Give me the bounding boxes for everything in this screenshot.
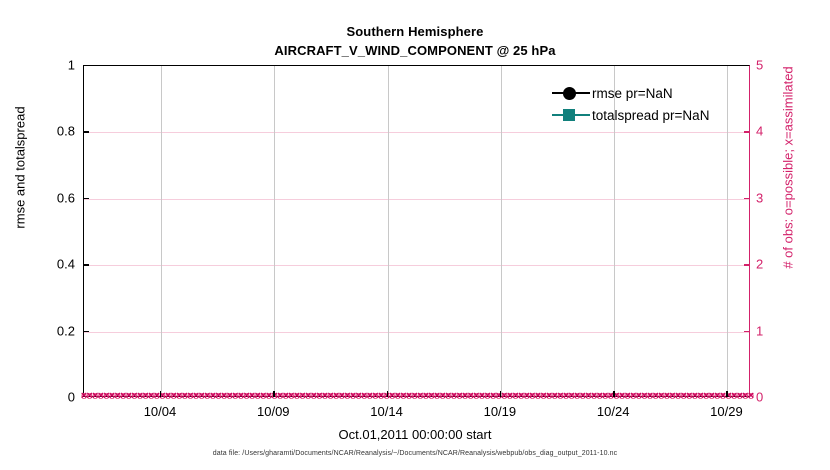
y-tick-label-right: 0 (756, 390, 792, 405)
obs-possible-marker: o (550, 392, 559, 401)
obs-assimilated-marker: × (208, 392, 217, 401)
obs-assimilated-marker: × (511, 392, 520, 401)
y-tick-label-left: 1 (5, 58, 75, 73)
obs-possible-marker: o (562, 392, 571, 401)
y-tick-label-left: 0.8 (5, 124, 75, 139)
legend-item-totalspread: totalspread pr=NaN (550, 104, 750, 126)
obs-possible-marker: o (702, 392, 711, 401)
obs-possible-marker: o (85, 392, 94, 401)
obs-assimilated-marker: × (724, 392, 733, 401)
obs-possible-marker: o (388, 392, 397, 401)
obs-assimilated-marker: × (494, 392, 503, 401)
obs-assimilated-marker: × (203, 392, 212, 401)
obs-possible-marker: o (276, 392, 285, 401)
obs-assimilated-marker: × (225, 392, 234, 401)
obs-assimilated-marker: × (505, 392, 514, 401)
obs-assimilated-marker: × (433, 392, 442, 401)
y-tick-mark-right (744, 331, 750, 332)
obs-assimilated-marker: × (690, 392, 699, 401)
obs-assimilated-marker: × (304, 392, 313, 401)
y-tick-mark-right (744, 198, 750, 199)
obs-assimilated-marker: × (287, 392, 296, 401)
obs-possible-marker: o (124, 392, 133, 401)
obs-assimilated-marker: × (169, 392, 178, 401)
x-tick-mark (613, 391, 614, 397)
obs-assimilated-marker: × (455, 392, 464, 401)
gridline-horizontal (84, 332, 749, 333)
obs-possible-marker: o (393, 392, 402, 401)
obs-possible-marker: o (651, 392, 660, 401)
obs-assimilated-marker: × (528, 392, 537, 401)
obs-possible-marker: o (399, 392, 408, 401)
obs-assimilated-marker: × (427, 392, 436, 401)
obs-assimilated-marker: × (96, 392, 105, 401)
obs-assimilated-marker: × (444, 392, 453, 401)
obs-assimilated-marker: × (646, 392, 655, 401)
obs-possible-marker: o (483, 392, 492, 401)
obs-possible-marker: o (629, 392, 638, 401)
obs-possible-marker: o (354, 392, 363, 401)
obs-possible-marker: o (534, 392, 543, 401)
y-tick-mark-right (744, 264, 750, 265)
obs-possible-marker: o (567, 392, 576, 401)
obs-possible-marker: o (236, 392, 245, 401)
obs-possible-marker: o (741, 392, 750, 401)
obs-possible-marker: o (416, 392, 425, 401)
obs-assimilated-marker: × (236, 392, 245, 401)
obs-assimilated-marker: × (264, 392, 273, 401)
obs-possible-marker: o (304, 392, 313, 401)
obs-assimilated-marker: × (421, 392, 430, 401)
obs-possible-marker: o (248, 392, 257, 401)
obs-assimilated-marker: × (668, 392, 677, 401)
obs-possible-marker: o (136, 392, 145, 401)
obs-assimilated-marker: × (472, 392, 481, 401)
obs-assimilated-marker: × (534, 392, 543, 401)
obs-assimilated-marker: × (618, 392, 627, 401)
obs-possible-marker: o (315, 392, 324, 401)
obs-assimilated-marker: × (141, 392, 150, 401)
obs-assimilated-marker: × (657, 392, 666, 401)
gridline-vertical (501, 66, 502, 396)
obs-assimilated-marker: × (578, 392, 587, 401)
obs-possible-marker: o (360, 392, 369, 401)
obs-assimilated-marker: × (483, 392, 492, 401)
obs-assimilated-marker: × (584, 392, 593, 401)
obs-assimilated-marker: × (102, 392, 111, 401)
obs-possible-marker: o (102, 392, 111, 401)
x-tick-mark (387, 391, 388, 397)
page-title: Southern Hemisphere (0, 22, 830, 41)
obs-assimilated-marker: × (550, 392, 559, 401)
obs-possible-marker: o (640, 392, 649, 401)
obs-possible-marker: o (427, 392, 436, 401)
y-tick-label-right: 3 (756, 190, 792, 205)
obs-possible-marker: o (657, 392, 666, 401)
obs-assimilated-marker: × (679, 392, 688, 401)
legend-marker-circle-icon (550, 83, 592, 103)
obs-assimilated-marker: × (220, 392, 229, 401)
y-tick-label-left: 0.2 (5, 323, 75, 338)
x-tick-label: 10/14 (342, 404, 432, 419)
y-tick-mark-left (83, 198, 89, 199)
obs-possible-marker: o (461, 392, 470, 401)
obs-possible-marker: o (674, 392, 683, 401)
x-tick-label: 10/19 (455, 404, 545, 419)
y-tick-label-left: 0.6 (5, 190, 75, 205)
obs-possible-marker: o (696, 392, 705, 401)
y-tick-mark-right (744, 131, 750, 132)
obs-possible-marker: o (634, 392, 643, 401)
obs-possible-marker: o (590, 392, 599, 401)
obs-possible-marker: o (186, 392, 195, 401)
obs-assimilated-marker: × (337, 392, 346, 401)
obs-possible-marker: o (601, 392, 610, 401)
x-tick-mark (160, 391, 161, 397)
obs-possible-marker: o (192, 392, 201, 401)
obs-assimilated-marker: × (573, 392, 582, 401)
obs-assimilated-marker: × (477, 392, 486, 401)
obs-possible-marker: o (225, 392, 234, 401)
chart-subtitle: AIRCRAFT_V_WIND_COMPONENT @ 25 hPa (0, 41, 830, 60)
obs-assimilated-marker: × (343, 392, 352, 401)
x-tick-label: 10/04 (115, 404, 205, 419)
obs-possible-marker: o (292, 392, 301, 401)
obs-possible-marker: o (444, 392, 453, 401)
obs-possible-marker: o (528, 392, 537, 401)
obs-assimilated-marker: × (410, 392, 419, 401)
obs-assimilated-marker: × (259, 392, 268, 401)
y-tick-mark-left (83, 264, 89, 265)
obs-assimilated-marker: × (180, 392, 189, 401)
obs-possible-marker: o (287, 392, 296, 401)
obs-possible-marker: o (175, 392, 184, 401)
obs-assimilated-marker: × (281, 392, 290, 401)
obs-assimilated-marker: × (713, 392, 722, 401)
obs-assimilated-marker: × (730, 392, 739, 401)
obs-possible-marker: o (690, 392, 699, 401)
obs-assimilated-marker: × (349, 392, 358, 401)
obs-assimilated-marker: × (707, 392, 716, 401)
obs-possible-marker: o (449, 392, 458, 401)
obs-assimilated-marker: × (377, 392, 386, 401)
obs-assimilated-marker: × (735, 392, 744, 401)
obs-possible-marker: o (735, 392, 744, 401)
obs-assimilated-marker: × (332, 392, 341, 401)
obs-assimilated-marker: × (321, 392, 330, 401)
obs-assimilated-marker: × (371, 392, 380, 401)
obs-possible-marker: o (618, 392, 627, 401)
obs-possible-marker: o (298, 392, 307, 401)
y-tick-label-left: 0 (5, 390, 75, 405)
obs-possible-marker: o (203, 392, 212, 401)
obs-possible-marker: o (573, 392, 582, 401)
obs-assimilated-marker: × (461, 392, 470, 401)
obs-possible-marker: o (349, 392, 358, 401)
obs-assimilated-marker: × (298, 392, 307, 401)
obs-possible-marker: o (517, 392, 526, 401)
obs-assimilated-marker: × (113, 392, 122, 401)
x-tick-label: 10/29 (681, 404, 771, 419)
obs-possible-marker: o (365, 392, 374, 401)
obs-assimilated-marker: × (326, 392, 335, 401)
obs-possible-marker: o (337, 392, 346, 401)
obs-assimilated-marker: × (562, 392, 571, 401)
obs-possible-marker: o (505, 392, 514, 401)
legend-label-rmse: rmse pr=NaN (592, 86, 673, 101)
obs-assimilated-marker: × (197, 392, 206, 401)
gridline-vertical (274, 66, 275, 396)
obs-possible-marker: o (141, 392, 150, 401)
obs-possible-marker: o (231, 392, 240, 401)
obs-possible-marker: o (108, 392, 117, 401)
obs-assimilated-marker: × (634, 392, 643, 401)
obs-assimilated-marker: × (309, 392, 318, 401)
obs-possible-marker: o (253, 392, 262, 401)
obs-possible-marker: o (96, 392, 105, 401)
gridline-horizontal (84, 132, 749, 133)
obs-possible-marker: o (332, 392, 341, 401)
obs-possible-marker: o (433, 392, 442, 401)
gridline-vertical (388, 66, 389, 396)
obs-possible-marker: o (713, 392, 722, 401)
x-axis-label: Oct.01,2011 00:00:00 start (0, 427, 830, 442)
obs-assimilated-marker: × (393, 392, 402, 401)
obs-possible-marker: o (259, 392, 268, 401)
obs-assimilated-marker: × (449, 392, 458, 401)
obs-assimilated-marker: × (522, 392, 531, 401)
obs-assimilated-marker: × (164, 392, 173, 401)
obs-assimilated-marker: × (192, 392, 201, 401)
obs-possible-marker: o (494, 392, 503, 401)
obs-possible-marker: o (679, 392, 688, 401)
obs-possible-marker: o (438, 392, 447, 401)
chart-title-block: Southern Hemisphere AIRCRAFT_V_WIND_COMP… (0, 22, 830, 60)
obs-possible-marker: o (646, 392, 655, 401)
obs-assimilated-marker: × (388, 392, 397, 401)
obs-possible-marker: o (164, 392, 173, 401)
obs-assimilated-marker: × (517, 392, 526, 401)
obs-possible-marker: o (371, 392, 380, 401)
obs-assimilated-marker: × (674, 392, 683, 401)
obs-possible-marker: o (214, 392, 223, 401)
obs-assimilated-marker: × (147, 392, 156, 401)
obs-assimilated-marker: × (276, 392, 285, 401)
obs-possible-marker: o (180, 392, 189, 401)
obs-assimilated-marker: × (489, 392, 498, 401)
obs-assimilated-marker: × (253, 392, 262, 401)
obs-assimilated-marker: × (124, 392, 133, 401)
obs-possible-marker: o (281, 392, 290, 401)
obs-assimilated-marker: × (80, 392, 89, 401)
legend-label-totalspread: totalspread pr=NaN (592, 108, 709, 123)
obs-assimilated-marker: × (741, 392, 750, 401)
obs-assimilated-marker: × (601, 392, 610, 401)
obs-possible-marker: o (343, 392, 352, 401)
obs-assimilated-marker: × (136, 392, 145, 401)
obs-possible-marker: o (584, 392, 593, 401)
obs-possible-marker: o (169, 392, 178, 401)
x-tick-mark (726, 391, 727, 397)
obs-assimilated-marker: × (292, 392, 301, 401)
obs-possible-marker: o (539, 392, 548, 401)
obs-possible-marker: o (321, 392, 330, 401)
obs-assimilated-marker: × (651, 392, 660, 401)
obs-assimilated-marker: × (175, 392, 184, 401)
obs-possible-marker: o (242, 392, 251, 401)
obs-possible-marker: o (489, 392, 498, 401)
obs-possible-marker: o (113, 392, 122, 401)
obs-possible-marker: o (326, 392, 335, 401)
obs-possible-marker: o (730, 392, 739, 401)
obs-possible-marker: o (309, 392, 318, 401)
obs-possible-marker: o (147, 392, 156, 401)
obs-possible-marker: o (511, 392, 520, 401)
y-tick-mark-left (83, 131, 89, 132)
obs-assimilated-marker: × (360, 392, 369, 401)
obs-assimilated-marker: × (466, 392, 475, 401)
obs-assimilated-marker: × (629, 392, 638, 401)
obs-assimilated-marker: × (231, 392, 240, 401)
obs-assimilated-marker: × (590, 392, 599, 401)
obs-assimilated-marker: × (405, 392, 414, 401)
x-tick-label: 10/24 (568, 404, 658, 419)
chart-legend: rmse pr=NaN totalspread pr=NaN (550, 82, 750, 126)
obs-assimilated-marker: × (108, 392, 117, 401)
obs-assimilated-marker: × (91, 392, 100, 401)
gridline-horizontal (84, 265, 749, 266)
obs-possible-marker: o (472, 392, 481, 401)
gridline-horizontal (84, 199, 749, 200)
obs-assimilated-marker: × (214, 392, 223, 401)
obs-assimilated-marker: × (556, 392, 565, 401)
obs-possible-marker: o (264, 392, 273, 401)
obs-possible-marker: o (410, 392, 419, 401)
y-tick-label-left: 0.4 (5, 257, 75, 272)
obs-assimilated-marker: × (416, 392, 425, 401)
gridline-vertical (161, 66, 162, 396)
obs-assimilated-marker: × (696, 392, 705, 401)
obs-possible-marker: o (91, 392, 100, 401)
obs-possible-marker: o (707, 392, 716, 401)
obs-assimilated-marker: × (640, 392, 649, 401)
x-tick-mark (500, 391, 501, 397)
obs-assimilated-marker: × (545, 392, 554, 401)
obs-possible-marker: o (197, 392, 206, 401)
y-tick-label-right: 2 (756, 257, 792, 272)
legend-marker-square-icon (550, 105, 592, 125)
obs-assimilated-marker: × (702, 392, 711, 401)
obs-possible-marker: o (578, 392, 587, 401)
obs-possible-marker: o (119, 392, 128, 401)
obs-possible-marker: o (556, 392, 565, 401)
obs-assimilated-marker: × (623, 392, 632, 401)
obs-possible-marker: o (377, 392, 386, 401)
obs-possible-marker: o (685, 392, 694, 401)
obs-possible-marker: o (220, 392, 229, 401)
obs-assimilated-marker: × (567, 392, 576, 401)
obs-possible-marker: o (668, 392, 677, 401)
obs-assimilated-marker: × (365, 392, 374, 401)
obs-possible-marker: o (477, 392, 486, 401)
obs-possible-marker: o (595, 392, 604, 401)
obs-possible-marker: o (130, 392, 139, 401)
obs-assimilated-marker: × (399, 392, 408, 401)
obs-possible-marker: o (747, 392, 756, 401)
obs-assimilated-marker: × (119, 392, 128, 401)
obs-assimilated-marker: × (747, 392, 756, 401)
y-tick-label-right: 4 (756, 124, 792, 139)
obs-assimilated-marker: × (186, 392, 195, 401)
legend-item-rmse: rmse pr=NaN (550, 82, 750, 104)
obs-assimilated-marker: × (315, 392, 324, 401)
obs-assimilated-marker: × (85, 392, 94, 401)
y-tick-label-right: 5 (756, 58, 792, 73)
obs-assimilated-marker: × (662, 392, 671, 401)
obs-possible-marker: o (623, 392, 632, 401)
obs-assimilated-marker: × (242, 392, 251, 401)
x-tick-label: 10/09 (228, 404, 318, 419)
obs-assimilated-marker: × (595, 392, 604, 401)
y-tick-mark-left (83, 331, 89, 332)
obs-possible-marker: o (724, 392, 733, 401)
obs-possible-marker: o (466, 392, 475, 401)
obs-assimilated-marker: × (685, 392, 694, 401)
obs-possible-marker: o (522, 392, 531, 401)
obs-possible-marker: o (405, 392, 414, 401)
obs-assimilated-marker: × (354, 392, 363, 401)
obs-assimilated-marker: × (130, 392, 139, 401)
obs-possible-marker: o (80, 392, 89, 401)
obs-assimilated-marker: × (438, 392, 447, 401)
x-tick-mark (273, 391, 274, 397)
obs-possible-marker: o (662, 392, 671, 401)
data-file-footer: data file: /Users/gharamti/Documents/NCA… (0, 450, 830, 457)
y-tick-label-right: 1 (756, 323, 792, 338)
obs-possible-marker: o (455, 392, 464, 401)
obs-possible-marker: o (208, 392, 217, 401)
obs-possible-marker: o (545, 392, 554, 401)
obs-assimilated-marker: × (248, 392, 257, 401)
obs-assimilated-marker: × (539, 392, 548, 401)
obs-possible-marker: o (421, 392, 430, 401)
